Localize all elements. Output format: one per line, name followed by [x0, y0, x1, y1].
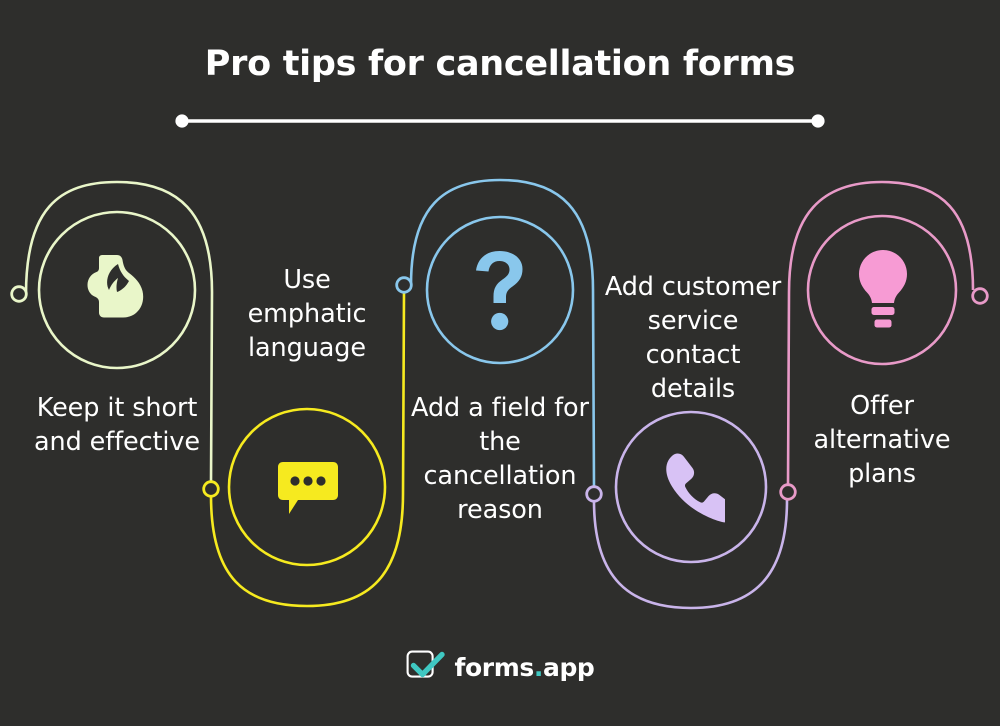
tip-label-3: Add a field for the cancellation reason	[410, 392, 590, 528]
checkbox-check-icon	[406, 650, 446, 684]
connector-wire-layer	[0, 0, 1000, 726]
connector-dot-1-2[interactable]	[204, 482, 219, 497]
logo-checkmark	[413, 655, 442, 675]
page-title: Pro tips for cancellation forms	[0, 46, 1000, 83]
logo-wordmark: forms.app	[455, 655, 595, 680]
question-mark-icon	[474, 250, 526, 332]
divider-dot-right	[811, 114, 824, 127]
tip-label-4: Add customer service contact details	[600, 271, 786, 407]
light-bulb-icon	[856, 249, 910, 331]
phone-handset-icon	[659, 453, 725, 523]
flexed-biceps-icon	[77, 250, 157, 330]
footer-logo[interactable]: forms.app	[0, 650, 1000, 684]
logo-text-app: app	[543, 653, 594, 682]
connector-dot-start[interactable]	[12, 287, 27, 302]
title-divider	[175, 114, 825, 128]
connector-dot-end[interactable]	[973, 289, 988, 304]
infographic-canvas: Pro tips for cancellation forms	[0, 0, 1000, 726]
tip-label-1: Keep it short and effective	[24, 392, 210, 460]
logo-text-forms: forms	[455, 653, 534, 682]
divider-dot-left	[175, 114, 188, 127]
connector-dot-2-3[interactable]	[397, 278, 412, 293]
tip-label-2: Use emphatic language	[222, 264, 392, 366]
header: Pro tips for cancellation forms	[0, 46, 1000, 83]
logo-text-dot: .	[534, 653, 543, 682]
tip-label-5: Offer alternative plans	[794, 390, 970, 492]
speech-bubble-icon	[276, 459, 340, 517]
